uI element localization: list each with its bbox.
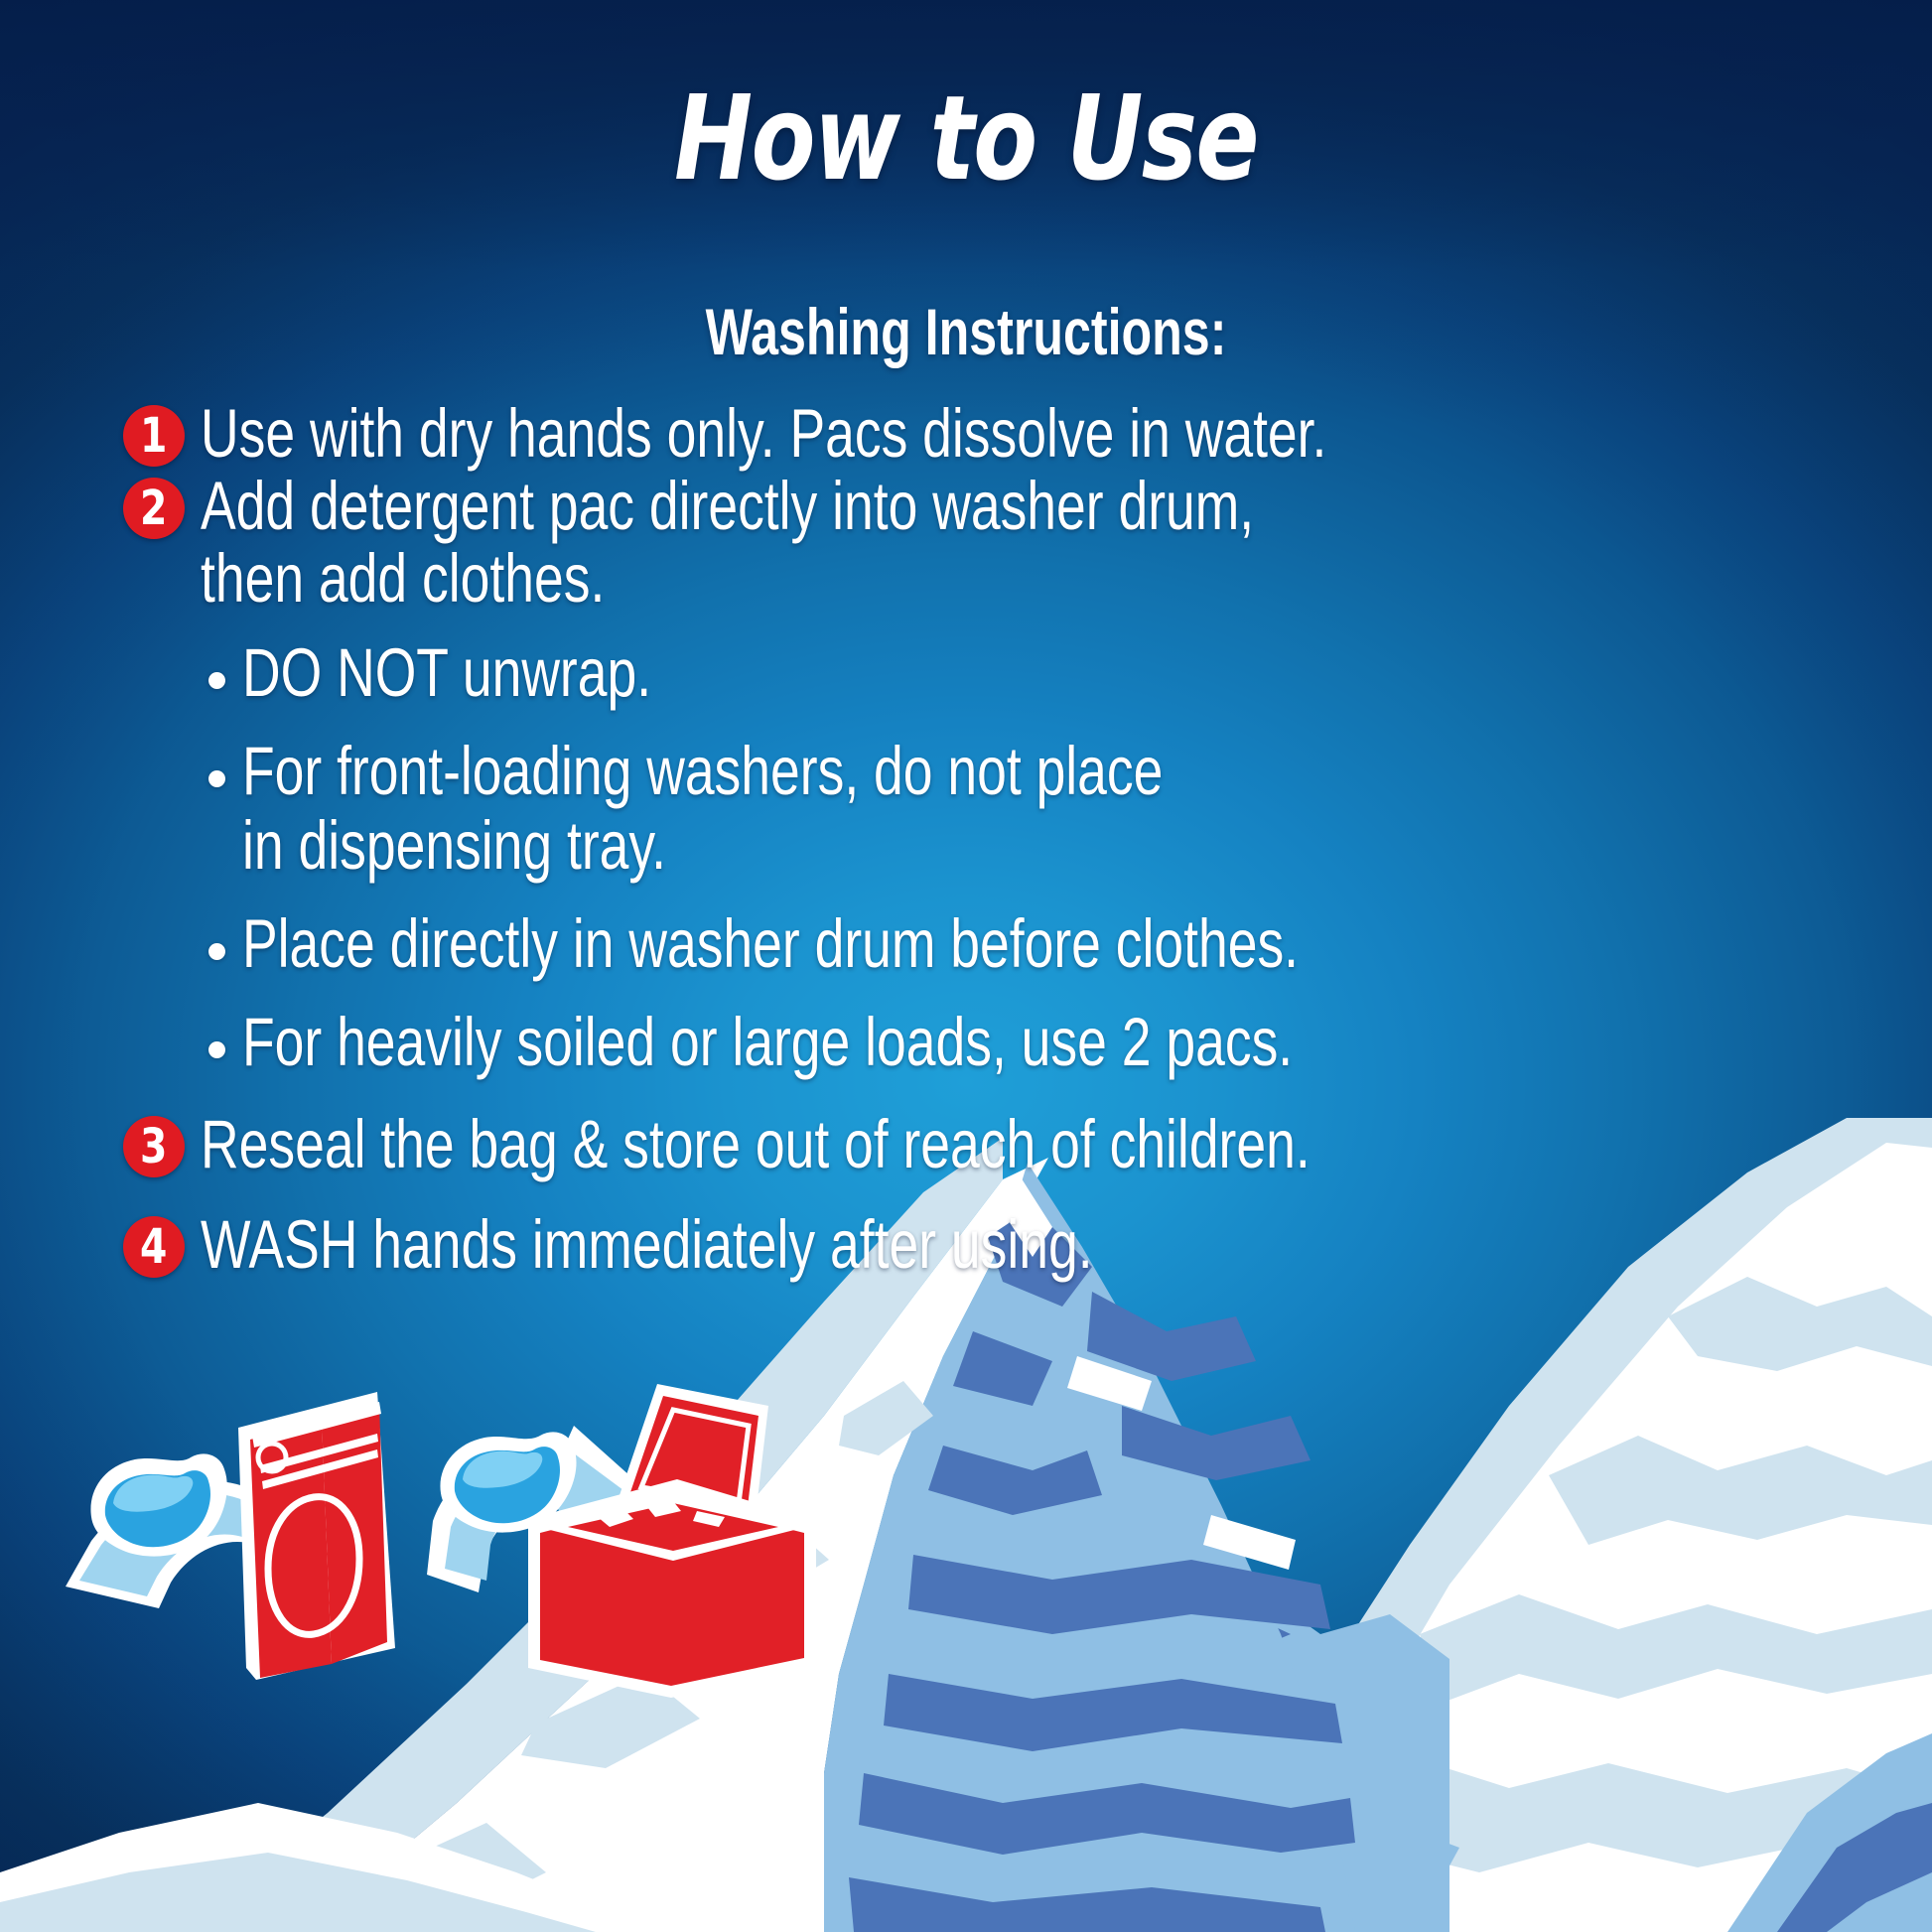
bullet-text-1: DO NOT unwrap. (242, 638, 651, 707)
step-line: Use with dry hands only. Pacs dissolve i… (201, 395, 1326, 472)
step-text-3: Reseal the bag & store out of reach of c… (201, 1106, 1311, 1178)
step-line: Add detergent pac directly into washer d… (201, 468, 1254, 544)
bullet-item-2: For front-loading washers, do not place … (208, 737, 1932, 880)
bullet-item-4: For heavily soiled or large loads, use 2… (208, 1008, 1932, 1076)
bullet-text-3: Place directly in washer drum before clo… (242, 909, 1299, 978)
step-line: Reseal the bag & store out of reach of c… (201, 1106, 1311, 1182)
bullet-line: For heavily soiled or large loads, use 2… (242, 1004, 1293, 1080)
step-number-4: 4 (140, 1216, 167, 1278)
step-line: then add clothes. (201, 544, 1254, 613)
step-item-4: 4 WASH hands immediately after using. (0, 1206, 1932, 1279)
bullet-line: Place directly in washer drum before clo… (242, 905, 1299, 982)
bullet-item-3: Place directly in washer drum before clo… (208, 909, 1932, 978)
step-number-2: 2 (140, 478, 167, 539)
step-text-1: Use with dry hands only. Pacs dissolve i… (201, 395, 1326, 468)
step-line: WASH hands immediately after using. (201, 1206, 1093, 1283)
bullet-dot-icon (208, 672, 225, 689)
bullet-text-4: For heavily soiled or large loads, use 2… (242, 1008, 1293, 1076)
step-number-badge-3: 3 (123, 1116, 185, 1177)
how-to-use-panel: How to Use Washing Instructions: 1 Use w… (0, 0, 1932, 1932)
bullet-text-2: For front-loading washers, do not place … (242, 737, 1163, 880)
step-number-3: 3 (140, 1116, 167, 1177)
step-number-badge-4: 4 (123, 1216, 185, 1278)
washer-icons-group (62, 1370, 816, 1698)
step-item-2: 2 Add detergent pac directly into washer… (0, 468, 1932, 613)
step-item-3: 3 Reseal the bag & store out of reach of… (0, 1106, 1932, 1178)
top-loading-washer-icon (427, 1384, 816, 1698)
bullet-line: in dispensing tray. (242, 811, 1163, 880)
step-number-1: 1 (140, 405, 167, 467)
page-title: How to Use (194, 77, 1739, 201)
step-number-badge-1: 1 (123, 405, 185, 467)
step-number-badge-2: 2 (123, 478, 185, 539)
step-text-4: WASH hands immediately after using. (201, 1206, 1093, 1279)
step-text-2: Add detergent pac directly into washer d… (201, 468, 1254, 613)
bullet-line: For front-loading washers, do not place (242, 733, 1163, 809)
instruction-steps: 1 Use with dry hands only. Pacs dissolve… (0, 395, 1932, 1279)
bullet-dot-icon (208, 943, 225, 960)
front-loading-washer-icon (66, 1392, 395, 1680)
bullet-line: DO NOT unwrap. (242, 634, 651, 711)
bullet-item-1: DO NOT unwrap. (208, 638, 1932, 707)
step-item-1: 1 Use with dry hands only. Pacs dissolve… (0, 395, 1932, 468)
instruction-bullets: DO NOT unwrap. For front-loading washers… (0, 638, 1932, 1076)
bullet-dot-icon (208, 770, 225, 787)
section-subtitle: Washing Instructions: (232, 294, 1701, 369)
bullet-dot-icon (208, 1041, 225, 1058)
